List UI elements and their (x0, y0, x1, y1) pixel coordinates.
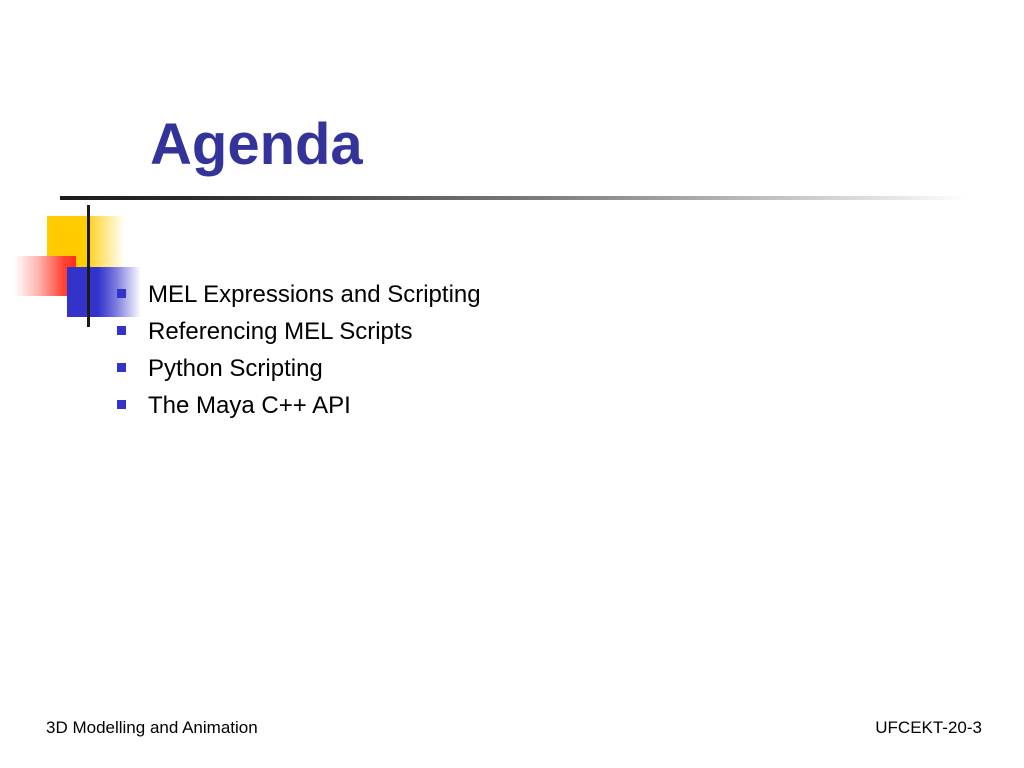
vertical-rule-icon (87, 205, 90, 327)
list-item-label: The Maya C++ API (148, 394, 351, 418)
page-title: Agenda (150, 116, 363, 174)
slide-footer: 3D Modelling and Animation UFCEKT-20-3 (0, 718, 1024, 738)
presentation-slide: Agenda MEL Expressions and Scripting Ref… (0, 0, 1024, 768)
agenda-list: MEL Expressions and Scripting Referencin… (117, 283, 481, 431)
square-bullet-icon (117, 326, 126, 335)
list-item-label: Python Scripting (148, 357, 323, 381)
square-bullet-icon (117, 363, 126, 372)
footer-module-code: UFCEKT-20-3 (875, 718, 982, 738)
list-item: Python Scripting (117, 357, 481, 394)
square-bullet-icon (117, 400, 126, 409)
footer-course-title: 3D Modelling and Animation (46, 718, 258, 738)
list-item: Referencing MEL Scripts (117, 320, 481, 357)
list-item-label: MEL Expressions and Scripting (148, 283, 481, 307)
horizontal-rule-divider (60, 196, 965, 200)
list-item: MEL Expressions and Scripting (117, 283, 481, 320)
list-item: The Maya C++ API (117, 394, 481, 431)
square-bullet-icon (117, 289, 126, 298)
list-item-label: Referencing MEL Scripts (148, 320, 413, 344)
